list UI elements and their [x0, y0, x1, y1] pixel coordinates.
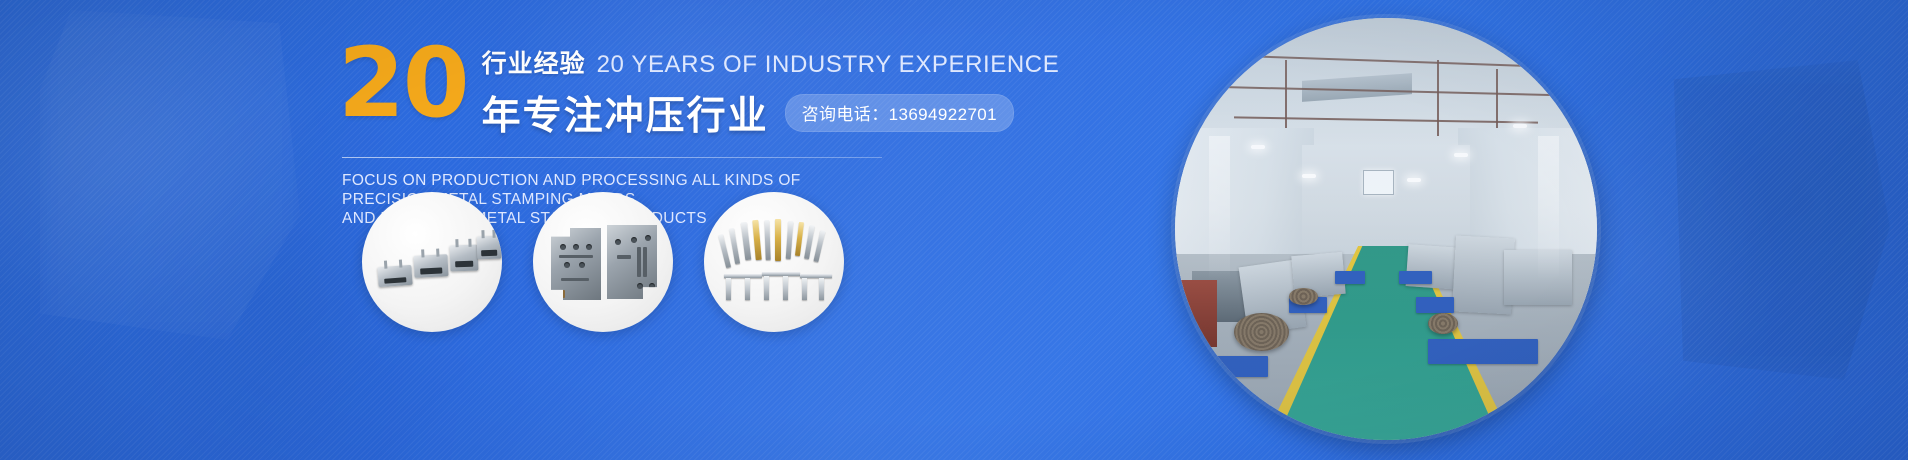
focus-label-cn: 年专注冲压行业 — [482, 85, 769, 141]
product-circle-stamping-dies[interactable] — [533, 192, 673, 332]
phone-badge[interactable]: 咨询电话：13694922701 — [785, 94, 1014, 132]
headline-row: 20 行业经验 20 YEARS OF INDUSTRY EXPERIENCE … — [338, 38, 898, 141]
headline-line-2: 年专注冲压行业 咨询电话：13694922701 — [482, 85, 1060, 141]
experience-label-en: 20 YEARS OF INDUSTRY EXPERIENCE — [597, 51, 1060, 79]
photo-color-tint — [1175, 18, 1597, 440]
headline-text-group: 行业经验 20 YEARS OF INDUSTRY EXPERIENCE 年专注… — [482, 38, 1060, 141]
promo-banner: 20 行业经验 20 YEARS OF INDUSTRY EXPERIENCE … — [0, 0, 1908, 460]
experience-label-cn: 行业经验 — [482, 44, 586, 80]
years-number: 20 — [338, 40, 468, 126]
product-circle-usb-connector-shells[interactable] — [362, 192, 502, 332]
headline-divider — [342, 157, 882, 158]
factory-photo-circle[interactable] — [1175, 18, 1597, 440]
headline-line-1: 行业经验 20 YEARS OF INDUSTRY EXPERIENCE — [482, 44, 1060, 80]
product-circle-metal-terminals[interactable] — [704, 192, 844, 332]
product-circle-group — [362, 192, 844, 332]
